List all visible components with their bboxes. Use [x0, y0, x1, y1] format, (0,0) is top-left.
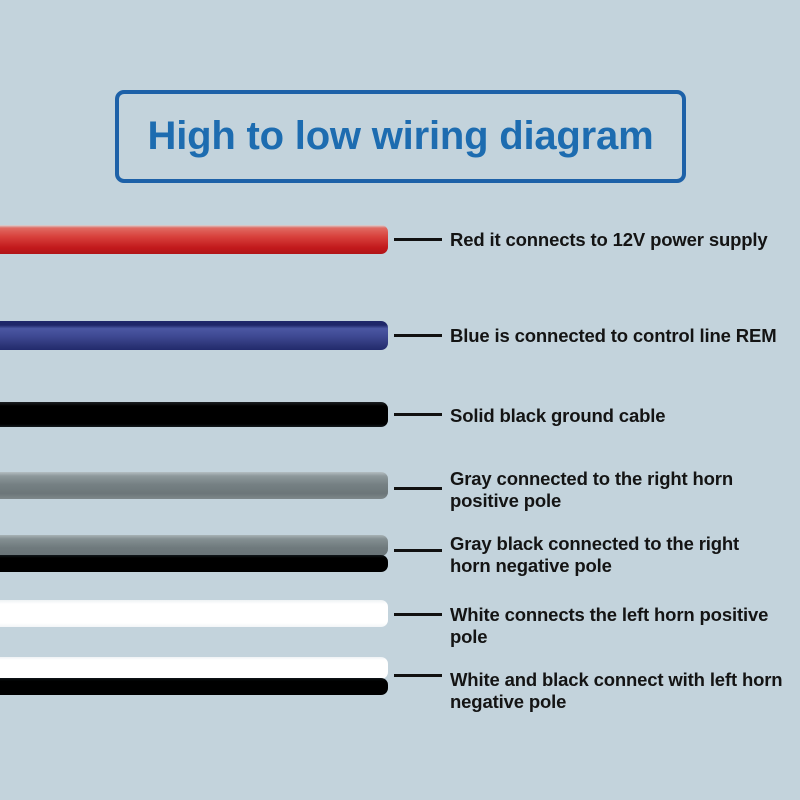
white-black-wire-black-band — [0, 678, 388, 695]
red-wire-band — [0, 225, 388, 254]
white-wire-leader-line — [394, 613, 442, 616]
white-black-wire-label: White and black connect with left horn n… — [450, 669, 782, 713]
white-black-wire-leader-line — [394, 674, 442, 677]
diagram-title-box: High to low wiring diagram — [115, 90, 686, 183]
white-wire-band — [0, 600, 388, 627]
black-wire-band — [0, 402, 388, 427]
gray-black-wire-black-band — [0, 555, 388, 572]
red-wire-leader-line — [394, 238, 442, 241]
blue-wire-band — [0, 321, 388, 350]
white-black-wire-white-band — [0, 657, 388, 679]
black-wire-label: Solid black ground cable — [450, 405, 665, 427]
page-title: High to low wiring diagram — [148, 114, 654, 159]
gray-black-wire-gray-band — [0, 535, 388, 556]
gray-black-wire-leader-line — [394, 549, 442, 552]
blue-wire-leader-line — [394, 334, 442, 337]
blue-wire-label: Blue is connected to control line REM — [450, 325, 776, 347]
white-wire-label: White connects the left horn positive po… — [450, 604, 800, 648]
black-wire-leader-line — [394, 413, 442, 416]
wiring-diagram-canvas: High to low wiring diagram Red it connec… — [0, 0, 800, 800]
red-wire-label: Red it connects to 12V power supply — [450, 229, 768, 251]
gray-wire-label: Gray connected to the right horn positiv… — [450, 468, 733, 512]
gray-wire-leader-line — [394, 487, 442, 490]
gray-black-wire-label: Gray black connected to the right horn n… — [450, 533, 739, 577]
gray-wire-band — [0, 472, 388, 499]
